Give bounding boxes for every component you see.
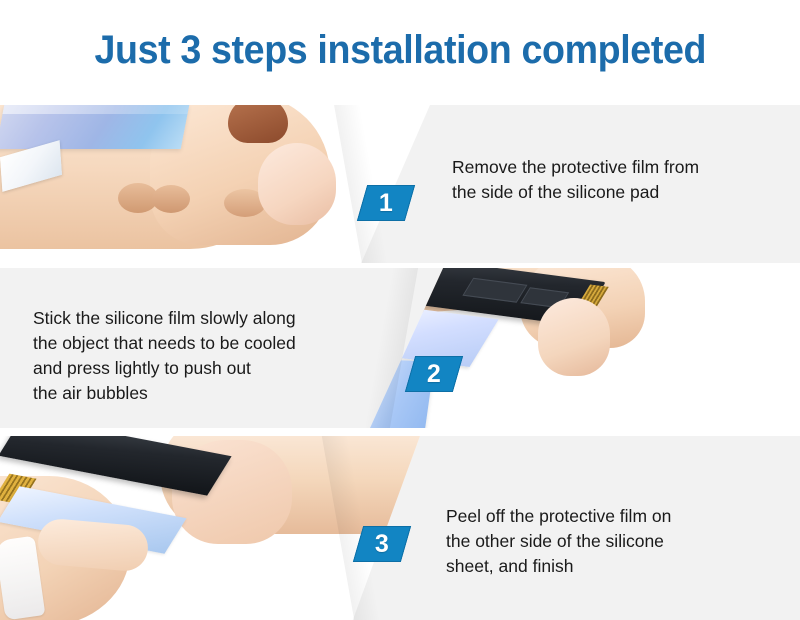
step-2-photo-panel (370, 268, 800, 428)
thumb-tip (258, 143, 336, 225)
installation-guide-page: Just 3 steps installation completed 1 Re… (0, 0, 800, 620)
step-3-photo (0, 436, 420, 620)
step-badge-3: 3 (353, 526, 411, 562)
step-row-1: 1 Remove the protective film from the si… (0, 105, 800, 263)
step-1-photo-panel (0, 105, 430, 263)
ssd-chip-1 (462, 278, 527, 303)
silicone-pad (0, 105, 189, 149)
step-badge-1: 1 (357, 185, 415, 221)
title-bar: Just 3 steps installation completed (0, 0, 800, 100)
fingertip-2 (152, 185, 190, 213)
step-row-3: 3 Peel off the protective film on the ot… (0, 436, 800, 620)
step-3-description: Peel off the protective film on the othe… (446, 504, 776, 579)
step-2-description: Stick the silicone film slowly along the… (33, 306, 383, 406)
step-badge-3-number: 3 (375, 532, 389, 557)
page-title: Just 3 steps installation completed (94, 28, 706, 73)
step-row-2: 2 Stick the silicone film slowly along t… (0, 268, 800, 428)
step-1-description: Remove the protective film from the side… (452, 155, 782, 205)
step-1-photo (0, 105, 430, 263)
step-2-photo (370, 268, 800, 428)
index-finger (538, 298, 610, 376)
step-3-photo-panel (0, 436, 420, 620)
step-badge-1-number: 1 (379, 191, 393, 216)
thumb-knuckle (228, 105, 288, 143)
step-badge-2-number: 2 (427, 362, 441, 387)
